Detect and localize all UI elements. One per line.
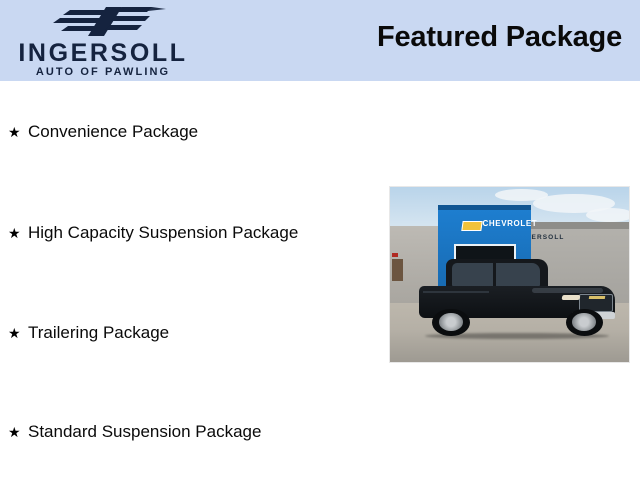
truck-front-wheel [566, 309, 603, 336]
photo-cloud [495, 189, 548, 201]
truck-headlight [561, 295, 580, 300]
truck-bowtie-icon [589, 296, 605, 299]
truck-windows [452, 263, 540, 286]
list-item: ★ Convenience Package [8, 122, 198, 142]
photo-doorway [392, 259, 403, 281]
truck-hood-highlight [532, 288, 603, 294]
truck-door-pillar [493, 263, 496, 286]
star-bullet-icon: ★ [8, 223, 28, 243]
ingersoll-wing-emblem-icon [48, 5, 168, 38]
chevrolet-bowtie-icon [461, 221, 482, 231]
list-item: ★ High Capacity Suspension Package [8, 223, 298, 243]
feature-list: ★ Convenience Package ★ High Capacity Su… [0, 81, 380, 480]
list-item-label: High Capacity Suspension Package [28, 223, 298, 243]
list-item: ★ Trailering Package [8, 323, 169, 343]
star-bullet-icon: ★ [8, 422, 28, 442]
truck-rim [439, 313, 463, 331]
list-item-label: Standard Suspension Package [28, 422, 261, 442]
dealer-tagline: AUTO OF PAWLING [6, 66, 200, 78]
truck-rear-wheel [432, 309, 469, 336]
list-item-label: Trailering Package [28, 323, 169, 343]
truck-rim [572, 313, 596, 331]
photo-brand-sign: CHEVROLET [483, 219, 538, 228]
photo-red-sign [392, 253, 398, 257]
photo-pickup-truck [419, 257, 615, 338]
list-item-label: Convenience Package [28, 122, 198, 142]
star-bullet-icon: ★ [8, 122, 28, 142]
slide-header: INGERSOLL AUTO OF PAWLING Featured Packa… [0, 0, 640, 81]
dealer-wordmark: INGERSOLL [6, 40, 200, 66]
photo-tower-cap [438, 205, 531, 211]
page-title: Featured Package [377, 21, 622, 54]
list-item: ★ Standard Suspension Package [8, 422, 261, 442]
dealer-logo: INGERSOLL AUTO OF PAWLING [0, 2, 205, 80]
photo-cloud [586, 208, 630, 222]
slide-canvas: INGERSOLL AUTO OF PAWLING Featured Packa… [0, 0, 640, 480]
star-bullet-icon: ★ [8, 323, 28, 343]
vehicle-photo: INGERSOLL CHEVROLET [389, 186, 630, 363]
truck-bed-rail [423, 291, 490, 293]
